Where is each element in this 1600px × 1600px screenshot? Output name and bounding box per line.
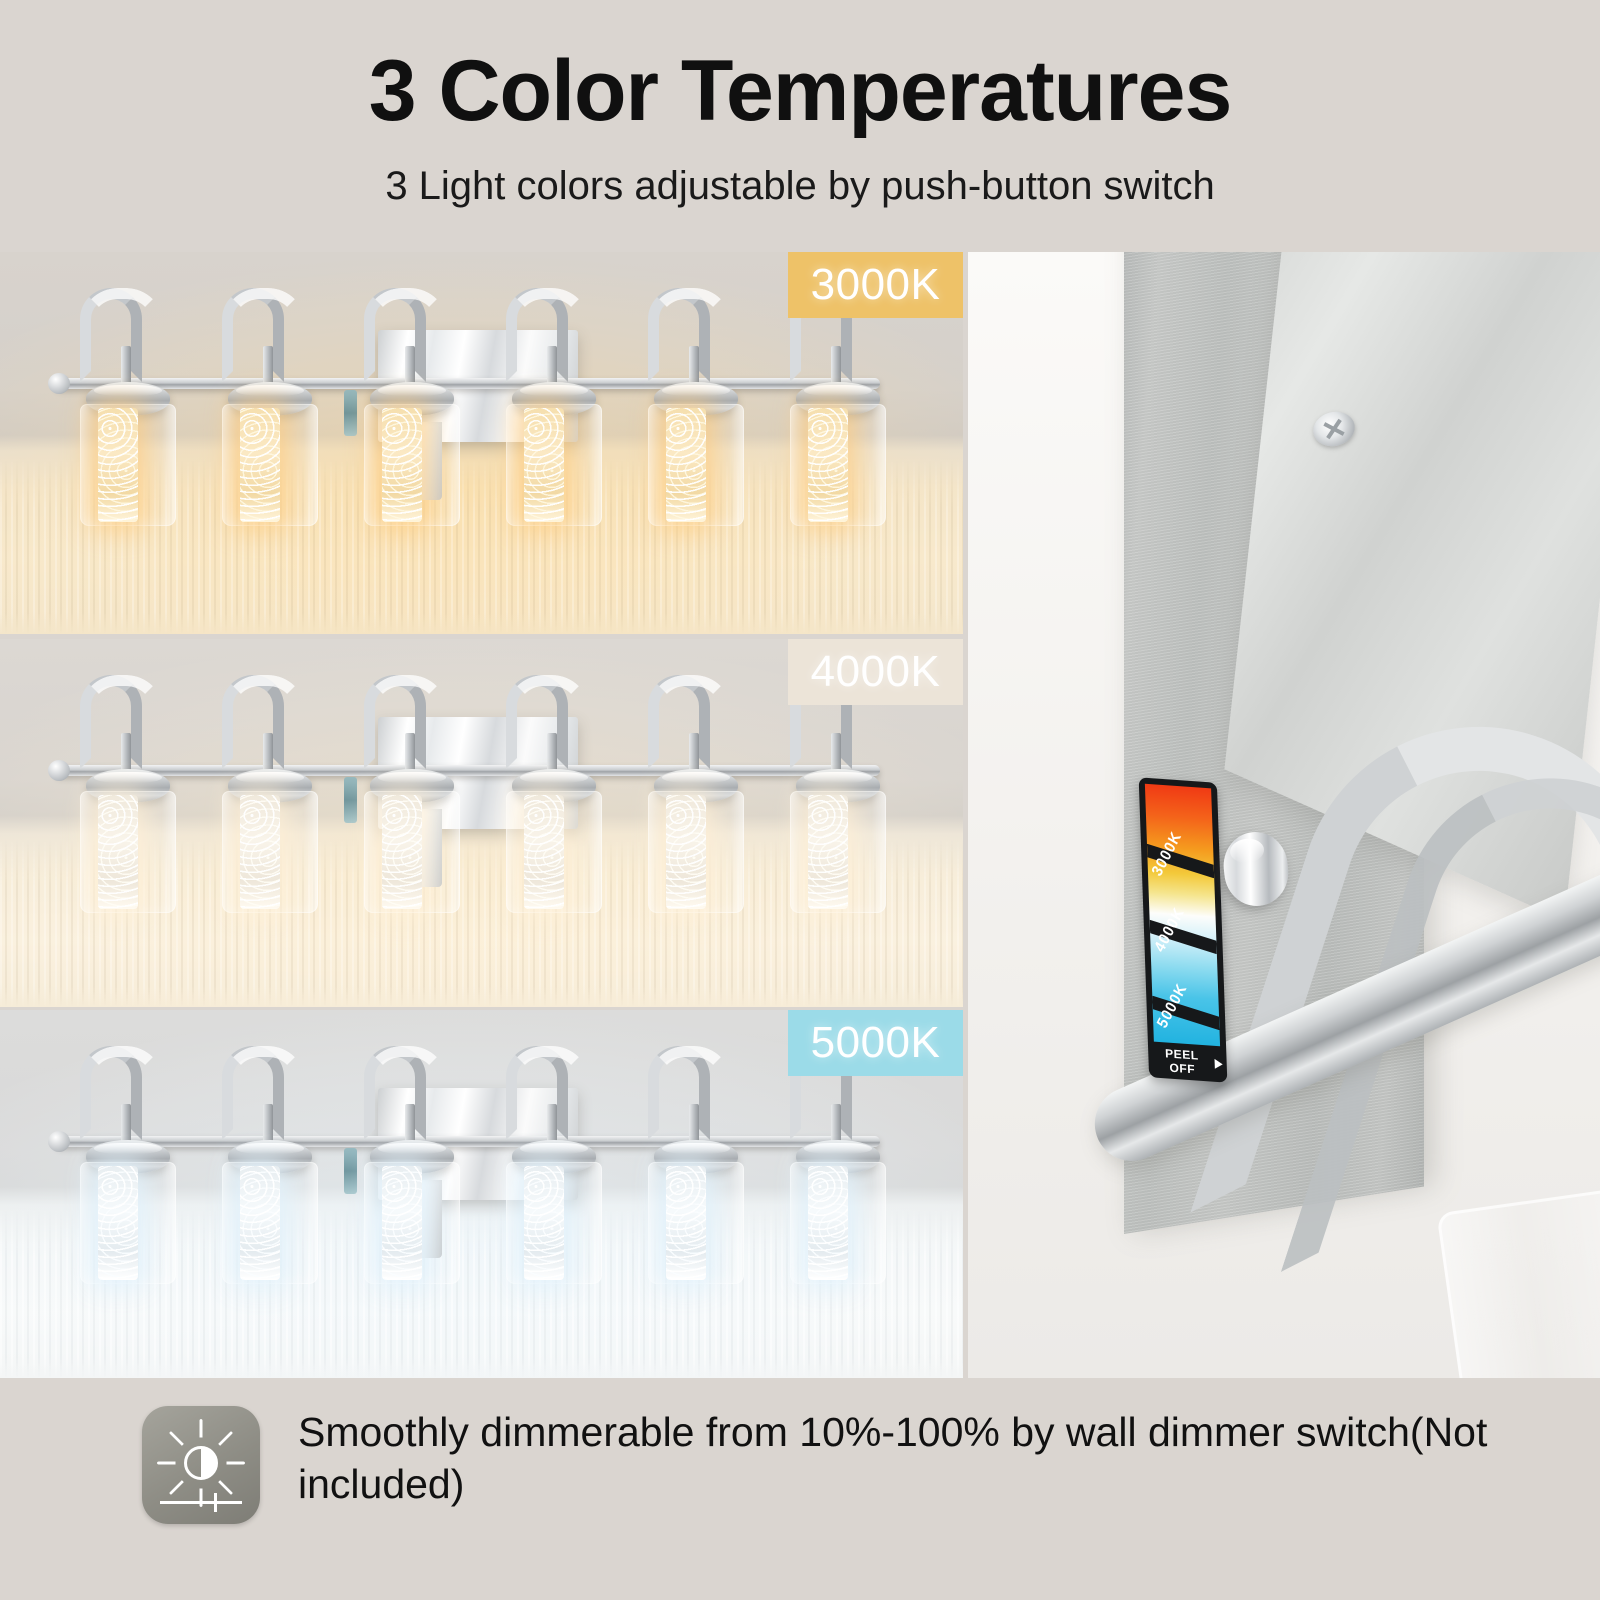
sun-ray	[201, 1462, 245, 1465]
lamp-head	[200, 286, 320, 526]
bubble-crystal-core	[666, 1166, 706, 1280]
scene-4000k: 4000K	[0, 639, 963, 1007]
lamp-head	[768, 1044, 888, 1284]
lamp-head	[200, 673, 320, 913]
peel-off-instruction: PEEL OFF	[1152, 1045, 1223, 1078]
badge-3000k: 3000K	[788, 252, 963, 318]
dimmer-caption: Smoothly dimmerable from 10%-100% by wal…	[298, 1406, 1558, 1511]
lamp-head	[342, 1044, 462, 1284]
product-feature-page: 3 Color Temperatures 3 Light colors adju…	[0, 0, 1600, 1600]
lamp-head	[484, 286, 604, 526]
bubble-crystal-core	[524, 1166, 564, 1280]
temperature-comparison-column: 3000K 4000K	[0, 252, 963, 1378]
gooseneck-arm	[648, 1046, 710, 1140]
sun-ray	[157, 1462, 201, 1465]
bubble-crystal-core	[808, 1166, 848, 1280]
glass-shade-closeup	[1436, 1184, 1600, 1378]
lamp-head	[626, 1044, 746, 1284]
bubble-crystal-core	[98, 1166, 138, 1280]
peel-off-label: PEEL OFF	[1152, 1045, 1212, 1077]
gooseneck-arm	[364, 1046, 426, 1140]
fixture-crossbar	[56, 765, 880, 776]
lamp-head	[342, 286, 462, 526]
bubble-crystal-core	[666, 408, 706, 522]
lamp-head	[342, 673, 462, 913]
header: 3 Color Temperatures 3 Light colors adju…	[0, 0, 1600, 252]
lamp-head	[200, 1044, 320, 1284]
gooseneck-arm	[506, 1046, 568, 1140]
bubble-crystal-core	[808, 795, 848, 909]
dimmer-slider-icon	[160, 1501, 242, 1504]
gooseneck-arm	[648, 288, 710, 382]
bubble-crystal-core	[98, 795, 138, 909]
bubble-crystal-core	[382, 795, 422, 909]
gooseneck-arm	[364, 288, 426, 382]
gooseneck-arm	[222, 675, 284, 769]
gooseneck-arm	[648, 675, 710, 769]
scene-3000k: 3000K	[0, 252, 963, 634]
bubble-crystal-core	[524, 795, 564, 909]
bubble-crystal-core	[524, 408, 564, 522]
badge-5000k: 5000K	[788, 1010, 963, 1076]
arrow-right-icon	[1215, 1059, 1223, 1070]
gooseneck-arm	[80, 288, 142, 382]
lamp-head	[626, 673, 746, 913]
lamp-head	[626, 286, 746, 526]
bubble-crystal-core	[808, 408, 848, 522]
lamp-head	[58, 286, 178, 526]
gooseneck-arm	[222, 1046, 284, 1140]
badge-4000k: 4000K	[788, 639, 963, 705]
image-grid: 3000K 4000K	[0, 252, 1600, 1378]
lamp-head	[484, 1044, 604, 1284]
bubble-crystal-core	[240, 1166, 280, 1280]
scene-5000k: 5000K	[0, 1010, 963, 1378]
vanity-light-fixture	[48, 1044, 888, 1284]
bubble-crystal-core	[382, 408, 422, 522]
gooseneck-arm	[506, 675, 568, 769]
fixture-crossbar	[56, 378, 880, 389]
lamp-head	[484, 673, 604, 913]
bubble-crystal-core	[98, 408, 138, 522]
switch-closeup-panel: 3000K 4000K 5000K PEEL OFF	[968, 252, 1600, 1378]
lamp-head	[58, 673, 178, 913]
bubble-crystal-core	[666, 795, 706, 909]
gooseneck-arm	[222, 288, 284, 382]
bubble-crystal-core	[382, 1166, 422, 1280]
brightness-dimmer-icon	[142, 1406, 260, 1524]
bubble-crystal-core	[240, 795, 280, 909]
gooseneck-arm	[80, 675, 142, 769]
lamp-head	[768, 673, 888, 913]
vanity-light-fixture	[48, 286, 888, 526]
color-temperature-sticker: 3000K 4000K 5000K PEEL OFF	[1139, 777, 1228, 1082]
lamp-head	[58, 1044, 178, 1284]
gooseneck-arm	[80, 1046, 142, 1140]
gooseneck-arm	[506, 288, 568, 382]
lamp-head	[768, 286, 888, 526]
fixture-crossbar	[56, 1136, 880, 1147]
gooseneck-arm	[364, 675, 426, 769]
page-title: 3 Color Temperatures	[0, 0, 1600, 134]
bubble-crystal-core	[240, 408, 280, 522]
footer: Smoothly dimmerable from 10%-100% by wal…	[0, 1378, 1600, 1600]
page-subtitle: 3 Light colors adjustable by push-button…	[0, 134, 1600, 209]
sun-ray	[200, 1419, 203, 1463]
vanity-light-fixture	[48, 673, 888, 913]
